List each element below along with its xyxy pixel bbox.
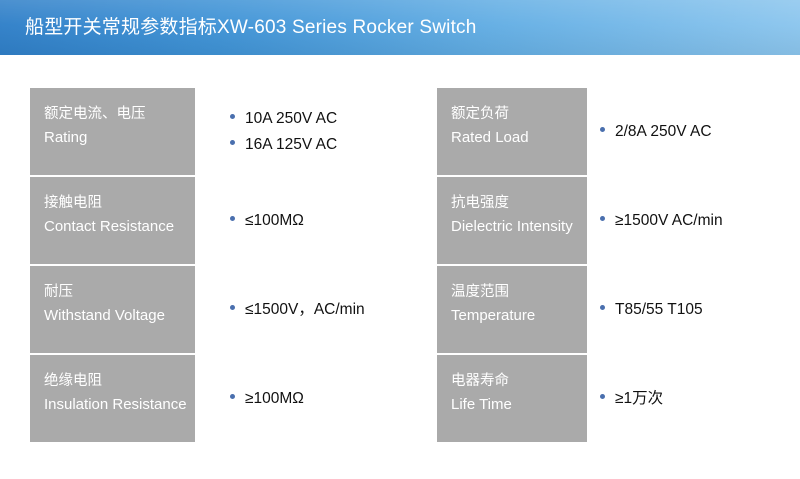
bullet-icon xyxy=(230,394,235,399)
spec-value-item: ≥1500V AC/min xyxy=(600,208,800,234)
spec-row: 绝缘电阻 Insulation Resistance ≥100MΩ xyxy=(30,355,430,442)
spec-label-cn: 额定电流、电压 xyxy=(44,102,195,126)
spec-column-right: 额定负荷 Rated Load 2/8A 250V AC 抗电强度 Dielec… xyxy=(437,88,800,442)
spec-table: 额定电流、电压 Rating 10A 250V AC 16A 125V AC 接… xyxy=(0,55,800,479)
bullet-icon xyxy=(230,114,235,119)
spec-row: 额定负荷 Rated Load 2/8A 250V AC xyxy=(437,88,800,175)
spec-label-cn: 额定负荷 xyxy=(451,102,587,126)
spec-value-text: ≤1500V，AC/min xyxy=(245,297,365,323)
spec-values-rated-load: 2/8A 250V AC xyxy=(600,88,800,175)
spec-label-withstand-voltage: 耐压 Withstand Voltage xyxy=(30,266,195,353)
spec-row: 额定电流、电压 Rating 10A 250V AC 16A 125V AC xyxy=(30,88,430,175)
spec-values-insulation-resistance: ≥100MΩ xyxy=(230,355,430,442)
spec-value-item: T85/55 T105 xyxy=(600,297,800,323)
spec-row: 抗电强度 Dielectric Intensity ≥1500V AC/min xyxy=(437,177,800,264)
spec-label-cn: 耐压 xyxy=(44,280,195,304)
bullet-icon xyxy=(600,216,605,221)
page-header: 船型开关常规参数指标XW-603 Series Rocker Switch xyxy=(0,0,800,55)
spec-values-contact-resistance: ≤100MΩ xyxy=(230,177,430,264)
spec-value-text: ≥1500V AC/min xyxy=(615,208,723,234)
page-title: 船型开关常规参数指标XW-603 Series Rocker Switch xyxy=(25,0,477,55)
spec-label-rating: 额定电流、电压 Rating xyxy=(30,88,195,175)
spec-label-en: Dielectric Intensity xyxy=(451,215,587,239)
spec-values-life-time: ≥1万次 xyxy=(600,355,800,442)
spec-label-en: Temperature xyxy=(451,304,587,328)
spec-row: 耐压 Withstand Voltage ≤1500V，AC/min xyxy=(30,266,430,353)
bullet-icon xyxy=(600,305,605,310)
bullet-icon xyxy=(600,127,605,132)
spec-row: 电器寿命 Life Time ≥1万次 xyxy=(437,355,800,442)
spec-value-text: ≥1万次 xyxy=(615,386,663,412)
spec-values-dielectric-intensity: ≥1500V AC/min xyxy=(600,177,800,264)
bullet-icon xyxy=(600,394,605,399)
spec-label-en: Rating xyxy=(44,126,195,150)
bullet-icon xyxy=(230,140,235,145)
spec-column-left: 额定电流、电压 Rating 10A 250V AC 16A 125V AC 接… xyxy=(30,88,430,442)
spec-value-text: ≤100MΩ xyxy=(245,208,304,234)
spec-label-en: Rated Load xyxy=(451,126,587,150)
spec-label-cn: 绝缘电阻 xyxy=(44,369,195,393)
spec-value-item: ≤100MΩ xyxy=(230,208,430,234)
spec-row: 接触电阻 Contact Resistance ≤100MΩ xyxy=(30,177,430,264)
spec-values-rating: 10A 250V AC 16A 125V AC xyxy=(230,88,430,175)
spec-value-item: 2/8A 250V AC xyxy=(600,119,800,145)
spec-label-en: Insulation Resistance xyxy=(44,393,195,417)
spec-value-text: 2/8A 250V AC xyxy=(615,119,712,145)
spec-value-text: ≥100MΩ xyxy=(245,386,304,412)
spec-value-item: ≥1万次 xyxy=(600,386,800,412)
spec-label-dielectric-intensity: 抗电强度 Dielectric Intensity xyxy=(437,177,587,264)
spec-value-item: ≤1500V，AC/min xyxy=(230,297,430,323)
spec-label-insulation-resistance: 绝缘电阻 Insulation Resistance xyxy=(30,355,195,442)
spec-label-cn: 接触电阻 xyxy=(44,191,195,215)
spec-value-text: 10A 250V AC xyxy=(245,106,337,132)
spec-value-text: 16A 125V AC xyxy=(245,132,337,158)
spec-value-text: T85/55 T105 xyxy=(615,297,703,323)
spec-value-item: 10A 250V AC xyxy=(230,106,430,132)
spec-values-temperature: T85/55 T105 xyxy=(600,266,800,353)
spec-label-en: Life Time xyxy=(451,393,587,417)
spec-label-contact-resistance: 接触电阻 Contact Resistance xyxy=(30,177,195,264)
spec-label-rated-load: 额定负荷 Rated Load xyxy=(437,88,587,175)
bullet-icon xyxy=(230,216,235,221)
spec-label-temperature: 温度范围 Temperature xyxy=(437,266,587,353)
spec-label-cn: 温度范围 xyxy=(451,280,587,304)
spec-label-en: Contact Resistance xyxy=(44,215,195,239)
spec-value-item: ≥100MΩ xyxy=(230,386,430,412)
spec-label-en: Withstand Voltage xyxy=(44,304,195,328)
spec-label-life-time: 电器寿命 Life Time xyxy=(437,355,587,442)
spec-label-cn: 抗电强度 xyxy=(451,191,587,215)
spec-label-cn: 电器寿命 xyxy=(451,369,587,393)
spec-row: 温度范围 Temperature T85/55 T105 xyxy=(437,266,800,353)
spec-value-item: 16A 125V AC xyxy=(230,132,430,158)
bullet-icon xyxy=(230,305,235,310)
spec-values-withstand-voltage: ≤1500V，AC/min xyxy=(230,266,430,353)
